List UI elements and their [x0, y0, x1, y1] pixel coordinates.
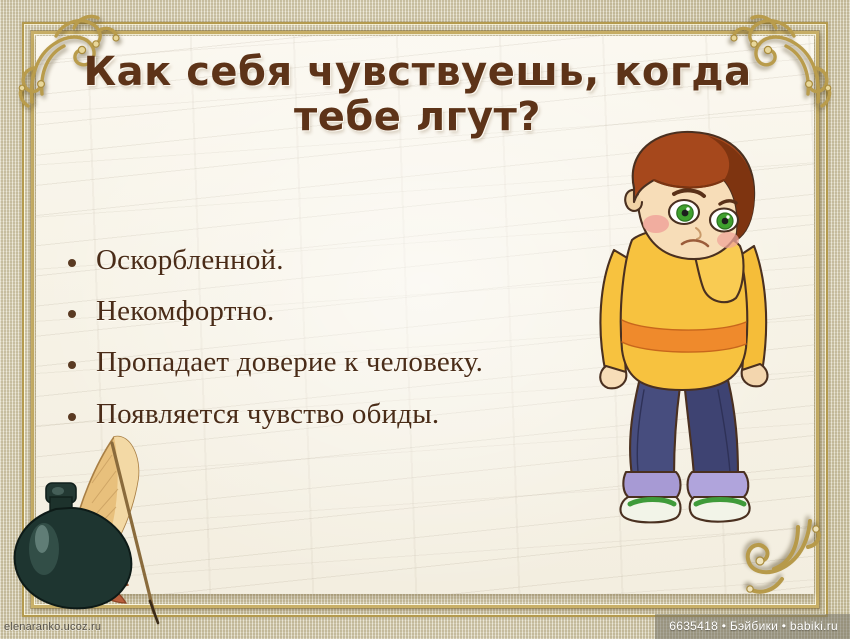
page-title: Как себя чувствуешь, когда тебе лгут? [60, 50, 775, 140]
list-item-label: Пропадает доверие к человеку. [96, 345, 483, 379]
bullet-list: Оскорбленной. Некомфортно. Пропадает дов… [62, 243, 622, 448]
list-item: Оскорбленной. [62, 243, 622, 277]
bullet-dot-icon [68, 361, 76, 369]
bullet-dot-icon [68, 413, 76, 421]
list-item-label: Оскорбленной. [96, 243, 284, 277]
watermark-right: 6635418 • Бэйбики • babiki.ru [655, 614, 850, 639]
bullet-dot-icon [68, 259, 76, 267]
quill-and-inkwell-illustration [8, 421, 193, 631]
list-item-label: Некомфортно. [96, 294, 274, 328]
title-line-1: Как себя чувствуешь, когда [60, 50, 775, 95]
presentation-slide: Как себя чувствуешь, когда тебе лгут? Ос… [0, 0, 850, 639]
list-item: Пропадает доверие к человеку. [62, 345, 622, 379]
title-line-2: тебе лгут? [60, 95, 775, 140]
list-item: Некомфортно. [62, 294, 622, 328]
watermark-left: elenaranko.ucoz.ru [4, 621, 101, 633]
bullet-dot-icon [68, 310, 76, 318]
